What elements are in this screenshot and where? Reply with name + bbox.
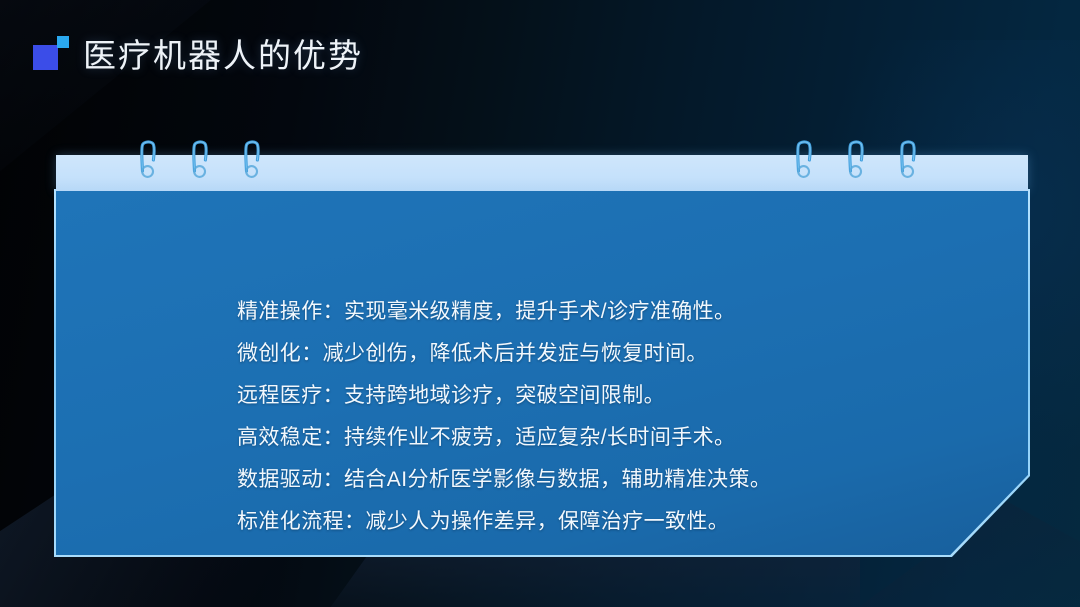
bullet-small-square-icon [57, 36, 69, 48]
advantages-list: 精准操作：实现毫米级精度，提升手术/诊疗准确性。微创化：减少创伤，降低术后并发症… [237, 291, 937, 543]
bullet-large-square-icon [33, 45, 58, 70]
advantage-line: 高效稳定：持续作业不疲劳，适应复杂/长时间手术。 [237, 417, 937, 459]
slide-canvas: 医疗机器人的优势 精准操作：实现毫米级精度，提升手术/诊疗准确性。微创化：减少创… [0, 0, 1080, 607]
slide-title-row: 医疗机器人的优势 [33, 36, 363, 74]
advantage-line: 数据驱动：结合AI分析医学影像与数据，辅助精准决策。 [237, 459, 937, 501]
content-card: 精准操作：实现毫米级精度，提升手术/诊疗准确性。微创化：减少创伤，降低术后并发症… [56, 155, 1028, 555]
advantage-line: 微创化：减少创伤，降低术后并发症与恢复时间。 [237, 333, 937, 375]
title-bullet-icon [33, 36, 71, 74]
advantage-line: 精准操作：实现毫米级精度，提升手术/诊疗准确性。 [237, 291, 937, 333]
advantage-line: 标准化流程：减少人为操作差异，保障治疗一致性。 [237, 501, 937, 543]
page-title: 医疗机器人的优势 [83, 39, 363, 72]
card-body: 精准操作：实现毫米级精度，提升手术/诊疗准确性。微创化：减少创伤，降低术后并发症… [56, 191, 1028, 555]
advantage-line: 远程医疗：支持跨地域诊疗，突破空间限制。 [237, 375, 937, 417]
card-header-strip [56, 155, 1028, 191]
